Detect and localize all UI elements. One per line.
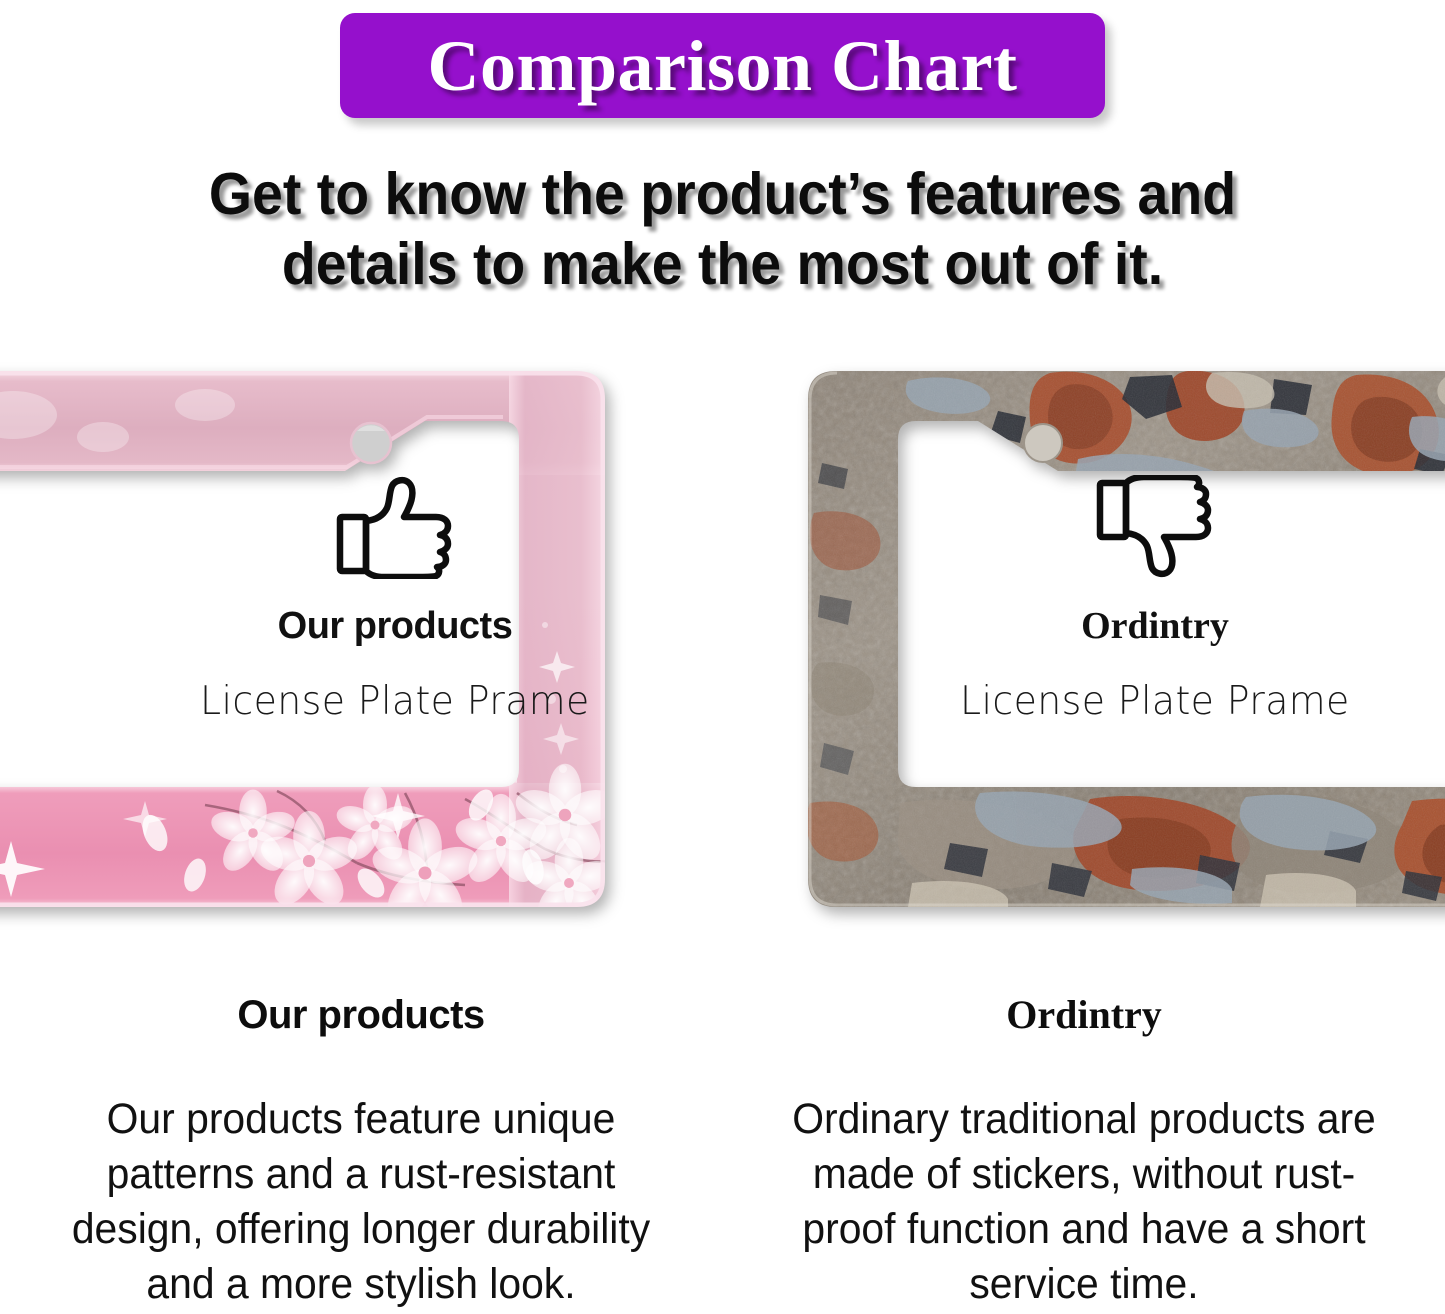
column-title-bad: Ordintry — [1006, 995, 1162, 1035]
plate-sublabel-good: License Plate Prame — [200, 682, 590, 721]
thumbs-down-icon — [1096, 475, 1214, 579]
descriptions-row: Our products Our products feature unique… — [0, 995, 1445, 1314]
frames-comparison-row: Our products License Plate Prame — [0, 0, 1445, 960]
description-column-bad: Ordintry Ordinary traditional products a… — [723, 995, 1445, 1312]
column-body-good: Our products feature unique patterns and… — [67, 1092, 656, 1312]
column-body-bad: Ordinary traditional products are made o… — [790, 1092, 1379, 1312]
thumbs-down-glyph — [1096, 475, 1214, 579]
comparison-chart-infographic: Comparison Chart Get to know the product… — [0, 0, 1445, 1314]
column-title-good: Our products — [237, 995, 484, 1035]
mounting-hole-good — [351, 423, 391, 463]
mounting-hole-bad — [1024, 424, 1062, 462]
plate-sublabel-bad: License Plate Prame — [960, 682, 1350, 721]
plate-label-bad: Ordintry — [1081, 607, 1229, 645]
thumbs-up-icon — [336, 475, 454, 579]
thumbs-up-glyph — [336, 475, 454, 579]
description-column-good: Our products Our products feature unique… — [0, 995, 722, 1312]
plate-window-good: Our products License Plate Prame — [100, 475, 690, 721]
plate-window-bad: Ordintry License Plate Prame — [860, 475, 1445, 721]
plate-label-good: Our products — [278, 607, 513, 645]
